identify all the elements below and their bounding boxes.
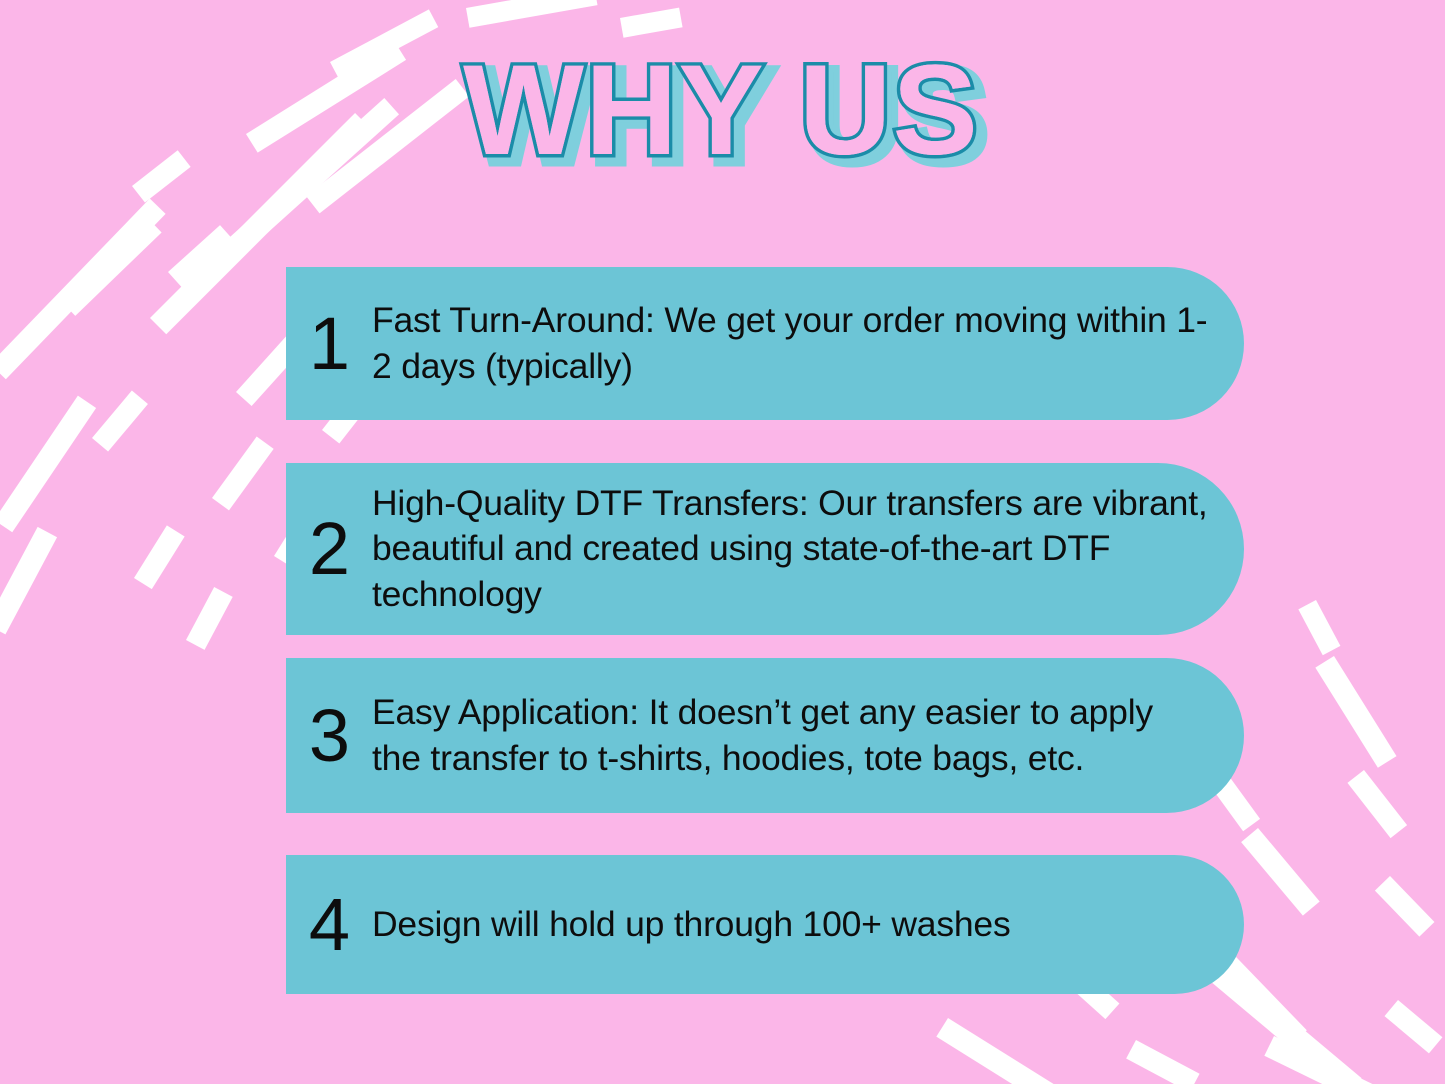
why-us-poster: WHY US WHY US WHY US WHY US 1 Fast Turn-… (0, 0, 1445, 1084)
list-item-number: 1 (286, 307, 372, 381)
list-item: 4 Design will hold up through 100+ washe… (286, 855, 1244, 994)
list-item-text: Easy Application: It doesn’t get any eas… (372, 690, 1244, 781)
list-item: 2 High-Quality DTF Transfers: Our transf… (286, 463, 1244, 635)
list-item: 1 Fast Turn-Around: We get your order mo… (286, 267, 1244, 420)
list-item-number: 3 (286, 699, 372, 773)
list-item-text: Design will hold up through 100+ washes (372, 902, 1045, 947)
list-item-text: Fast Turn-Around: We get your order movi… (372, 298, 1244, 389)
list-item-text: High-Quality DTF Transfers: Our transfer… (372, 481, 1244, 617)
list-item-number: 4 (286, 888, 372, 962)
page-title: WHY US WHY US WHY US WHY US (0, 44, 1445, 194)
list-item: 3 Easy Application: It doesn’t get any e… (286, 658, 1244, 813)
list-item-number: 2 (286, 512, 372, 586)
page-title-inner-gap: WHY US (463, 44, 979, 182)
